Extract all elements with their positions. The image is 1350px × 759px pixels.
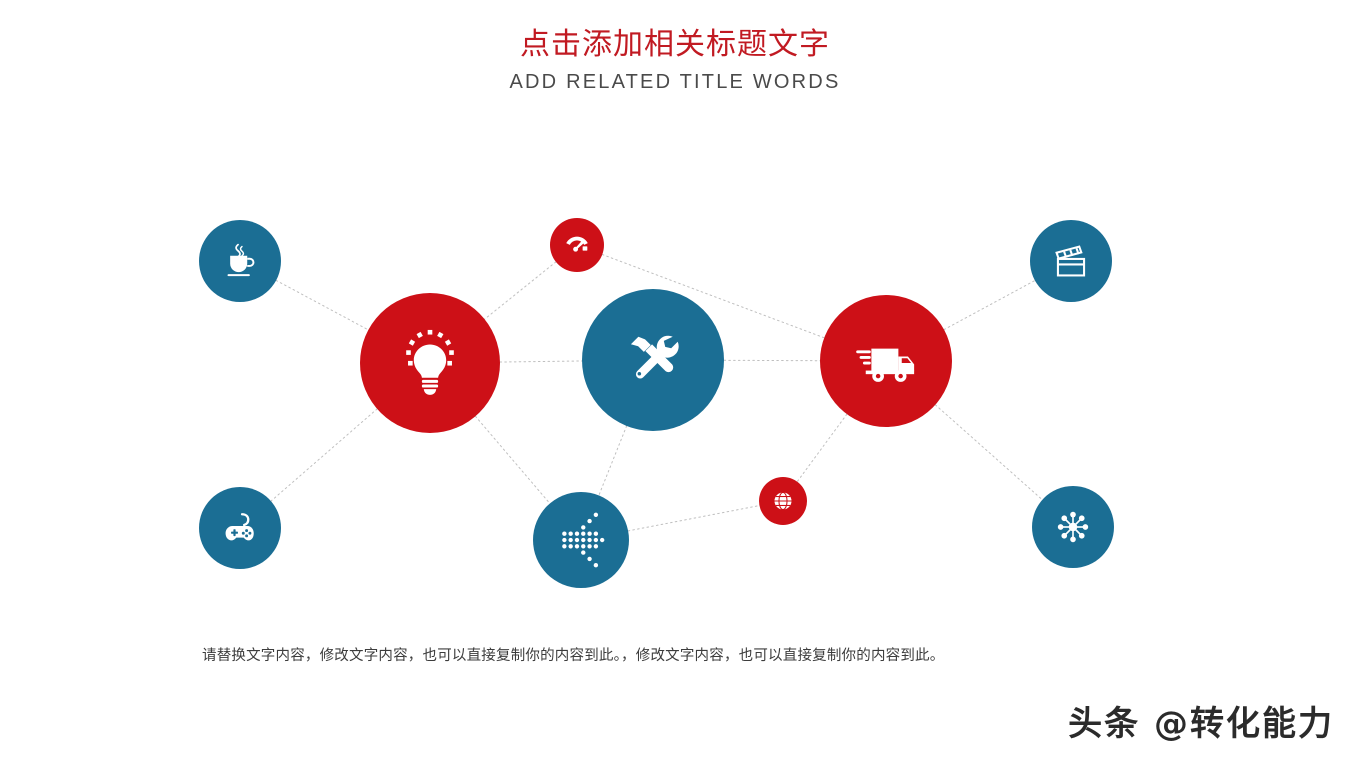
node-dot-arrow[interactable] <box>533 492 629 588</box>
watermark: 头条 @转化能力 <box>1068 696 1334 745</box>
node-globe[interactable] <box>759 477 807 525</box>
delivery-truck-icon <box>850 325 922 397</box>
globe-icon <box>770 488 796 514</box>
node-coffee[interactable] <box>199 220 281 302</box>
node-hub[interactable] <box>1032 486 1114 568</box>
lightbulb-idea-icon <box>393 326 467 400</box>
footer-note: 请替换文字内容，修改文字内容，也可以直接复制你的内容到此。，修改文字内容，也可以… <box>202 644 1202 665</box>
hammer-wrench-icon <box>615 322 691 398</box>
speedometer-icon <box>562 230 592 260</box>
node-clapper[interactable] <box>1030 220 1112 302</box>
node-truck[interactable] <box>820 295 952 427</box>
film-clapper-icon <box>1049 239 1093 283</box>
coffee-cup-icon <box>219 240 261 282</box>
dot-arrow-right-icon <box>553 512 609 568</box>
node-lightbulb[interactable] <box>360 293 500 433</box>
node-speedometer[interactable] <box>550 218 604 272</box>
node-gamepad[interactable] <box>199 487 281 569</box>
gamepad-icon <box>218 506 262 550</box>
network-hub-icon <box>1051 505 1095 549</box>
node-tools[interactable] <box>582 289 724 431</box>
